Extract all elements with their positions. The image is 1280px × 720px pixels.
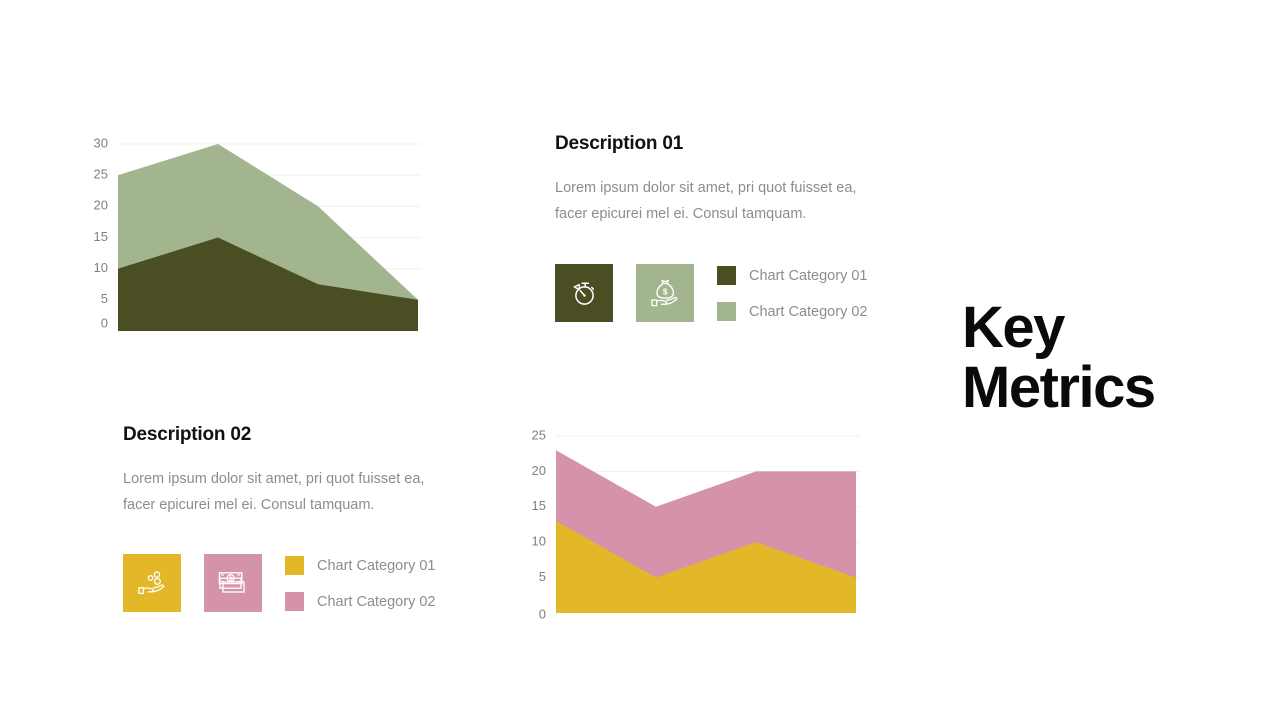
banknotes-icon: $: [217, 568, 249, 598]
stopwatch-icon-box[interactable]: [555, 264, 613, 322]
ytick-label: 20: [532, 463, 546, 478]
legend-swatch: [717, 266, 736, 285]
panel-02-icons-legend: $ Chart Category 01 Chart Category 02: [123, 554, 435, 612]
panel-01-body: Lorem ipsum dolor sit amet, pri quot fui…: [555, 175, 875, 228]
panel-01-legend: Chart Category 01 Chart Category 02: [717, 264, 867, 321]
chart-green-yaxis: 30 25 20 15 10 5 0: [94, 135, 108, 330]
svg-text:$: $: [229, 576, 233, 583]
ytick-label: 0: [101, 315, 108, 330]
panel-01-text: Description 01 Lorem ipsum dolor sit ame…: [555, 133, 875, 228]
chart-green-svg: 30 25 20 15 10 5 0: [86, 134, 421, 334]
svg-text:$: $: [663, 287, 668, 296]
page-title-line-2: Metrics: [962, 358, 1155, 418]
ytick-label: 10: [532, 534, 546, 549]
panel-01-heading: Description 01: [555, 133, 875, 155]
legend-label: Chart Category 01: [317, 558, 435, 574]
ytick-label: 10: [94, 260, 108, 275]
panel-02-legend: Chart Category 01 Chart Category 02: [285, 554, 435, 611]
ytick-label: 20: [94, 198, 108, 213]
hand-coins-icon-box[interactable]: [123, 554, 181, 612]
ytick-label: 0: [539, 606, 546, 621]
ytick-label: 5: [101, 291, 108, 306]
legend-item[interactable]: Chart Category 02: [285, 592, 435, 611]
ytick-label: 25: [94, 167, 108, 182]
legend-label: Chart Category 01: [749, 268, 867, 284]
ytick-label: 5: [539, 569, 546, 584]
hand-money-bag-icon: $: [649, 277, 681, 309]
hand-coins-icon: [136, 567, 168, 599]
hand-money-bag-icon-box[interactable]: $: [636, 264, 694, 322]
chart-green: 30 25 20 15 10 5 0: [86, 134, 421, 334]
page-title: Key Metrics: [962, 298, 1155, 417]
panel-02-body: Lorem ipsum dolor sit amet, pri quot fui…: [123, 466, 443, 519]
ytick-label: 15: [94, 229, 108, 244]
legend-swatch: [285, 592, 304, 611]
panel-01-icons-legend: $ Chart Category 01 Chart Category 02: [555, 264, 867, 322]
banknotes-icon-box[interactable]: $: [204, 554, 262, 612]
ytick-label: 30: [94, 135, 108, 150]
legend-item[interactable]: Chart Category 01: [717, 266, 867, 285]
legend-item[interactable]: Chart Category 02: [717, 302, 867, 321]
ytick-label: 15: [532, 498, 546, 513]
ytick-label: 25: [532, 427, 546, 442]
legend-swatch: [285, 556, 304, 575]
legend-swatch: [717, 302, 736, 321]
stopwatch-icon: [569, 278, 599, 308]
panel-02-text: Description 02 Lorem ipsum dolor sit ame…: [123, 424, 443, 519]
legend-label: Chart Category 02: [317, 594, 435, 610]
slide-root: 30 25 20 15 10 5 0 Description 01 Lorem …: [0, 0, 1280, 720]
page-title-line-1: Key: [962, 298, 1155, 358]
chart-yellow-pink: 25 20 15 10 5 0: [522, 428, 860, 624]
legend-item[interactable]: Chart Category 01: [285, 556, 435, 575]
chart-yellow-pink-svg: 25 20 15 10 5 0: [522, 428, 860, 624]
chart-yp-yaxis: 25 20 15 10 5 0: [532, 427, 546, 621]
legend-label: Chart Category 02: [749, 304, 867, 320]
panel-02-heading: Description 02: [123, 424, 443, 446]
